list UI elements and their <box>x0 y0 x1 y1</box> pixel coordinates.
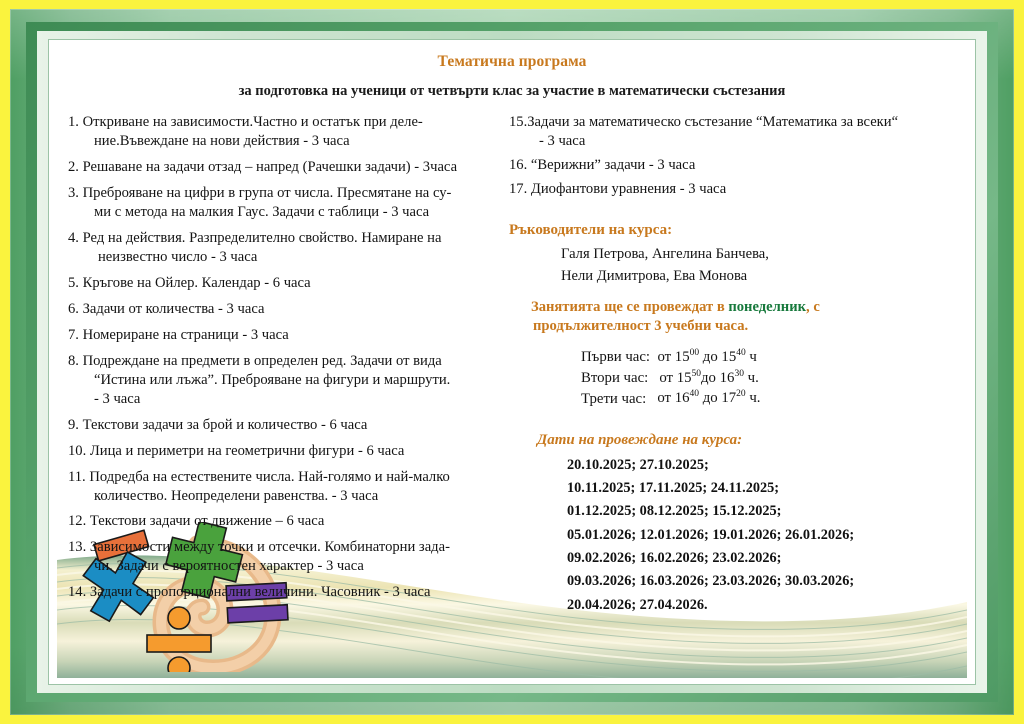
list-item: 17. Диофантови уравнения - 3 часа <box>509 180 967 199</box>
time-label: Първи час: <box>581 349 650 365</box>
list-item: 9. Текстови задачи за брой и количество … <box>68 416 500 435</box>
class-time-row: Втори час: от 1550до 1630 ч. <box>581 368 967 389</box>
item-number: 4. <box>68 230 79 246</box>
item-text: Зависимости между точки и отсечки. Комби… <box>90 539 450 555</box>
item-text-cont: ние.Въвеждане на нови действия - 3 часа <box>88 132 500 151</box>
dates-row: 09.03.2026; 16.03.2026; 23.03.2026; 30.0… <box>567 574 967 588</box>
item-number: 5. <box>68 275 79 291</box>
dates-row: 10.11.2025; 17.11.2025; 24.11.2025; <box>567 481 967 495</box>
item-number: 17. <box>509 181 527 197</box>
list-item: 15.Задачи за математическо състезание “М… <box>509 113 967 151</box>
list-item: 11. Подредба на естествените числа. Най-… <box>68 468 500 506</box>
time-value: от 1500 до 1540 ч <box>657 349 756 365</box>
item-text: Подреждане на предмети в определен ред. … <box>83 353 442 369</box>
list-item: 7. Номериране на страници - 3 часа <box>68 326 500 345</box>
item-text: Задачи с пропорционални величини. Часовн… <box>90 584 431 600</box>
class-time-row: Първи час: от 1500 до 1540 ч <box>581 347 967 368</box>
item-number: 12. <box>68 513 86 529</box>
item-text: “Верижни” задачи - 3 часа <box>531 157 695 173</box>
item-number: 9. <box>68 417 79 433</box>
time-label: Втори час: <box>581 370 648 386</box>
item-text-cont3: - 3 часа <box>88 390 500 409</box>
list-item: 8. Подреждане на предмети в определен ре… <box>68 352 500 409</box>
item-number: 16. <box>509 157 527 173</box>
item-text-cont: “Истина или лъжа”. Преброяване на фигури… <box>88 371 500 390</box>
item-text: Задачи от количества - 3 часа <box>83 301 265 317</box>
dates-row: 01.12.2025; 08.12.2025; 15.12.2025; <box>567 504 967 518</box>
dates-heading: Дати на провеждане на курса: <box>509 431 967 451</box>
item-number: 2. <box>68 159 79 175</box>
list-item: 4. Ред на действия. Разпределително свой… <box>68 229 500 267</box>
list-item: 3. Преброяване на цифри в група от числа… <box>68 184 500 222</box>
list-item: 16. “Верижни” задачи - 3 часа <box>509 156 967 175</box>
item-text: Диофантови уравнения - 3 часа <box>531 181 726 197</box>
list-item: 5. Кръгове на Ойлер. Календар - 6 часа <box>68 274 500 293</box>
item-number: 10. <box>68 443 86 459</box>
topics-left-column: 1. Откриване на зависимости.Частно и ост… <box>68 113 500 609</box>
list-item: 10. Лица и периметри на геометрични фигу… <box>68 442 500 461</box>
list-item: 6. Задачи от количества - 3 часа <box>68 300 500 319</box>
item-number: 15. <box>509 114 527 130</box>
item-number: 6. <box>68 301 79 317</box>
item-number: 3. <box>68 185 79 201</box>
time-value: от 1640 до 1720 ч. <box>654 390 761 406</box>
list-item: 13. Зависимости между точки и отсечки. К… <box>68 538 500 576</box>
document-page: Тематична програма за подготовка на учен… <box>57 45 967 678</box>
item-text: Ред на действия. Разпределително свойств… <box>83 230 442 246</box>
list-item: 1. Откриване на зависимости.Частно и ост… <box>68 113 500 151</box>
dates-list: 20.10.2025; 27.10.2025; 10.11.2025; 17.1… <box>509 458 967 612</box>
page-subtitle: за подготовка на ученици от четвърти кла… <box>57 83 967 100</box>
leaders-line-2: Нели Димитрова, Ева Монова <box>509 267 967 286</box>
item-text: Кръгове на Ойлер. Календар - 6 часа <box>83 275 311 291</box>
notice-part-2: , с <box>806 299 820 315</box>
notice-line-2: продължителност 3 учебни часа. <box>531 317 967 335</box>
document-content: Тематична програма за подготовка на учен… <box>57 45 967 678</box>
time-value: от 1550до 1630 ч. <box>656 370 759 386</box>
item-text: Подредба на естествените числа. Най-голя… <box>89 469 450 485</box>
leaders-heading: Ръководители на курса: <box>509 221 967 241</box>
item-number: 7. <box>68 327 79 343</box>
time-label: Трети час: <box>581 390 646 406</box>
item-text: Решаване на задачи отзад – напред (Рачеш… <box>83 159 457 175</box>
item-text: Преброяване на цифри в група от числа. П… <box>83 185 452 201</box>
item-number: 1. <box>68 114 79 130</box>
notice-part-1: Занятията ще се провеждат в <box>531 299 728 315</box>
poster-frame: Тематична програма за подготовка на учен… <box>0 0 1024 724</box>
dates-row: 20.04.2026; 27.04.2026. <box>567 598 967 612</box>
item-text: Номериране на страници - 3 часа <box>83 327 289 343</box>
dates-row: 05.01.2026; 12.01.2026; 19.01.2026; 26.0… <box>567 528 967 542</box>
dates-row: 09.02.2026; 16.02.2026; 23.02.2026; <box>567 551 967 565</box>
item-text: Откриване на зависимости.Частно и остатъ… <box>83 114 423 130</box>
list-item: 2. Решаване на задачи отзад – напред (Ра… <box>68 158 500 177</box>
item-text-cont: чи. Задачи с вероятностен характер - 3 ч… <box>88 557 500 576</box>
item-text-cont: количество. Неопределени равенства. - 3 … <box>88 487 500 506</box>
item-text-cont: - 3 часа <box>529 132 967 151</box>
list-item: 14. Задачи с пропорционални величини. Ча… <box>68 583 500 602</box>
item-number: 13. <box>68 539 86 555</box>
schedule-notice: Занятията ще се провеждат в понеделник, … <box>509 298 967 335</box>
page-title: Тематична програма <box>57 53 967 71</box>
class-times-list: Първи час: от 1500 до 1540 ч Втори час: … <box>509 347 967 409</box>
item-text-cont: неизвестно число - 3 часа <box>88 248 500 267</box>
dates-row: 20.10.2025; 27.10.2025; <box>567 458 967 472</box>
item-text-cont: ми с метода на малкия Гаус. Задачи с таб… <box>88 203 500 222</box>
item-text: Текстови задачи от движение – 6 часа <box>90 513 324 529</box>
leaders-line-1: Галя Петрова, Ангелина Банчева, <box>509 245 967 264</box>
list-item: 12. Текстови задачи от движение – 6 часа <box>68 512 500 531</box>
class-time-row: Трети час: от 1640 до 1720 ч. <box>581 389 967 410</box>
item-text: Лица и периметри на геометрични фигури -… <box>90 443 404 459</box>
item-text: Задачи за математическо състезание “Мате… <box>527 114 898 130</box>
item-number: 8. <box>68 353 79 369</box>
item-number: 14. <box>68 584 86 600</box>
topics-right-column: 15.Задачи за математическо състезание “М… <box>509 113 967 621</box>
item-number: 11. <box>68 469 86 485</box>
notice-highlight-day: понеделник <box>728 299 806 315</box>
item-text: Текстови задачи за брой и количество - 6… <box>83 417 368 433</box>
